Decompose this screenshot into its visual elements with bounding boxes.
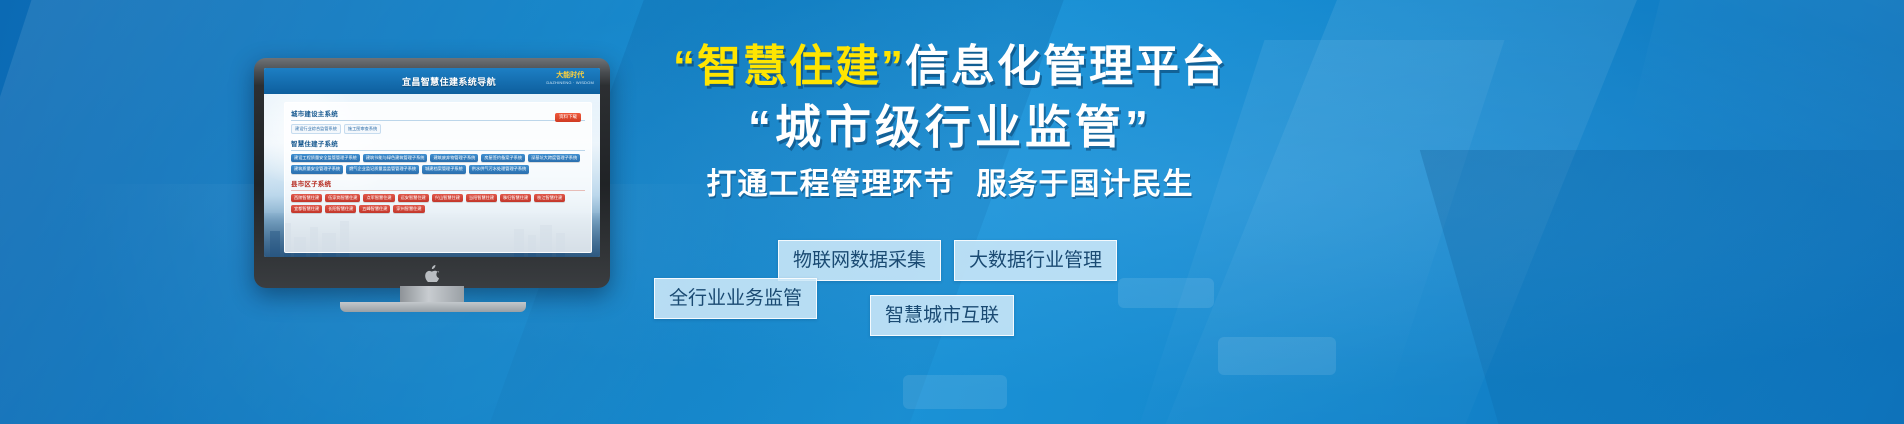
feature-tag-iot-data-collection[interactable]: 物联网数据采集	[778, 240, 941, 281]
screen-header-logo: 大能时代 DAZHINENG · WISDOM	[546, 72, 594, 85]
county-chip[interactable]: 宜都智慧住建	[291, 205, 322, 213]
headline-quote-open: “	[673, 42, 697, 91]
headline-line-1: “智慧住建”信息化管理平台	[600, 40, 1300, 94]
section-title-smart-housing: 智慧住建子系统	[291, 138, 585, 151]
headline-highlight: 智慧住建	[697, 42, 881, 91]
decorative-ghost-box	[903, 375, 1007, 409]
decorative-ghost-box	[1118, 278, 1214, 308]
screen-logo-main: 大能时代	[546, 72, 594, 79]
headline-quote-close: ”	[881, 42, 905, 91]
feature-tag-all-industry-supervision[interactable]: 全行业业务监管	[654, 278, 817, 319]
system-chip[interactable]: 建筑节能与绿色建筑管理子系统	[363, 154, 428, 162]
system-chip[interactable]: 建设行业综合监管系统	[291, 124, 341, 134]
apple-logo-icon	[425, 265, 440, 282]
section-title-main-system: 城市建设主系统	[291, 108, 585, 121]
headline-line-3: 打通工程管理环节服务于国计民生	[600, 165, 1300, 204]
download-button[interactable]: 资料下载	[555, 113, 581, 122]
system-chip[interactable]: 建设工程质量安全监管管理子系统	[291, 154, 360, 162]
screen-logo-sub: DAZHINENG · WISDOM	[546, 81, 594, 85]
county-chip[interactable]: 五峰智慧住建	[359, 205, 390, 213]
headline-line-1-rest: 信息化管理平台	[905, 42, 1227, 91]
system-chip[interactable]: 燃气企业监记质量监监管管理子系统	[346, 165, 419, 173]
system-chip[interactable]: 供水供气污水处理管理子系统	[469, 165, 529, 173]
system-chip[interactable]: 建筑废弃物管理子系统	[430, 154, 478, 162]
county-chip[interactable]: 秭归智慧住建	[500, 194, 531, 202]
county-chip[interactable]: 伍家岗智慧住建	[325, 194, 360, 202]
feature-tag-bigdata-industry-management[interactable]: 大数据行业管理	[954, 240, 1117, 281]
county-chip[interactable]: 远安智慧住建	[398, 194, 429, 202]
decorative-ghost-box	[1218, 337, 1336, 375]
background-facet-top-right	[1585, 0, 1904, 300]
system-chip[interactable]: 城建档案管理子系统	[422, 165, 466, 173]
chip-group-county-system: 西陵智慧住建 伍家岗智慧住建 点军智慧住建 远安智慧住建 兴山智慧住建 当阳智慧…	[291, 194, 585, 213]
system-chip[interactable]: 施工图审查系统	[344, 124, 381, 134]
monitor-brand-area	[254, 262, 610, 284]
screen-content-panel: 资料下载 城市建设主系统 建设行业综合监管系统 施工图审查系统 智慧住建子系统 …	[284, 102, 592, 253]
county-chip[interactable]: 长阳智慧住建	[325, 205, 356, 213]
county-chip[interactable]: 兴山智慧住建	[432, 194, 463, 202]
monitor-screen: 宜昌智慧住建系统导航 大能时代 DAZHINENG · WISDOM	[264, 68, 600, 257]
headline-line-2: “城市级行业监管”	[600, 98, 1300, 157]
headline-line-3-part-2: 服务于国计民生	[977, 168, 1194, 201]
monitor-bezel: 宜昌智慧住建系统导航 大能时代 DAZHINENG · WISDOM	[254, 58, 610, 288]
monitor-stand-base	[340, 302, 526, 312]
headline-group: “智慧住建”信息化管理平台 “城市级行业监管” 打通工程管理环节服务于国计民生	[600, 40, 1300, 204]
chip-group-smart-housing: 建设工程质量安全监管管理子系统 建筑节能与绿色建筑管理子系统 建筑废弃物管理子系…	[291, 154, 585, 173]
headline-line-3-part-1: 打通工程管理环节	[707, 168, 955, 201]
system-chip[interactable]: 深基坑大跨度管理子系统	[528, 154, 580, 162]
screen-body: 资料下载 城市建设主系统 建设行业综合监管系统 施工图审查系统 智慧住建子系统 …	[264, 94, 600, 257]
background-facet-bottom-right	[1420, 150, 1904, 424]
monitor-illustration: 宜昌智慧住建系统导航 大能时代 DAZHINENG · WISDOM	[254, 58, 610, 306]
promo-banner: 宜昌智慧住建系统导航 大能时代 DAZHINENG · WISDOM	[0, 0, 1904, 424]
chip-group-main-system: 建设行业综合监管系统 施工图审查系统	[291, 124, 585, 134]
county-chip[interactable]: 点军智慧住建	[363, 194, 394, 202]
county-chip[interactable]: 枝江智慧住建	[534, 194, 565, 202]
county-chip[interactable]: 家州智慧住建	[393, 205, 424, 213]
system-chip[interactable]: 建筑质量安全管理子系统	[291, 165, 343, 173]
county-chip[interactable]: 当阳智慧住建	[466, 194, 497, 202]
system-chip[interactable]: 房屋签约备案子系统	[481, 154, 525, 162]
county-chip[interactable]: 西陵智慧住建	[291, 194, 322, 202]
section-title-county-system: 县市区子系统	[291, 178, 585, 191]
screen-header: 宜昌智慧住建系统导航 大能时代 DAZHINENG · WISDOM	[264, 68, 600, 94]
feature-tag-smart-city-interconnect[interactable]: 智慧城市互联	[870, 295, 1014, 336]
